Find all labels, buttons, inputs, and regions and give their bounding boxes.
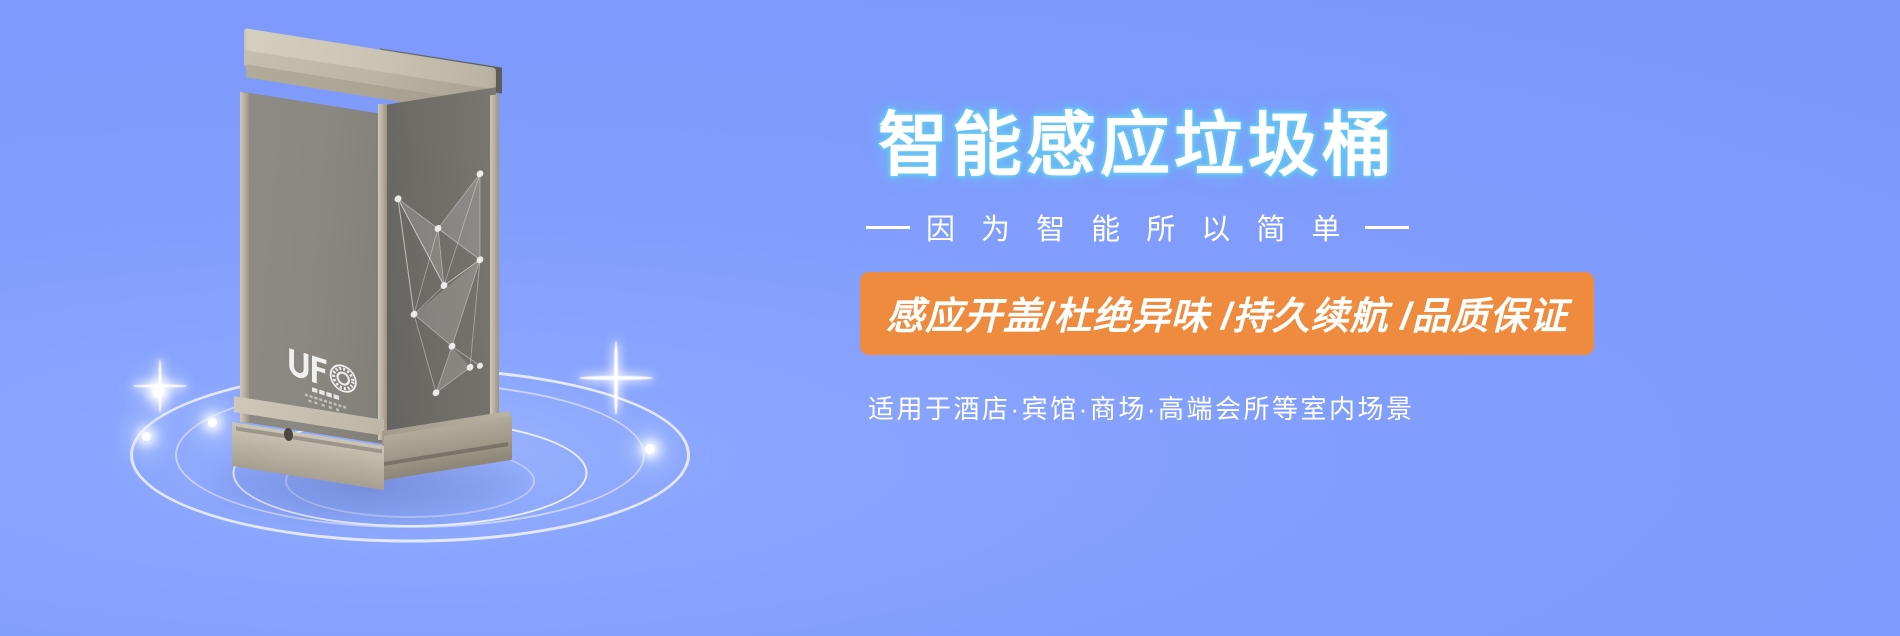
sensor-port-icon	[284, 427, 293, 441]
subline-rule-right	[1365, 226, 1409, 229]
product-scene	[60, 40, 760, 560]
promo-banner: 智能感应垃圾桶 因 为 智 能 所 以 简 单 感应开盖/杜绝异味 /持久续航 …	[0, 0, 1900, 636]
product-image-trash-can	[230, 40, 540, 460]
feature-badge: 感应开盖/杜绝异味 /持久续航 /品质保证	[860, 272, 1594, 355]
glow-dot-icon	[208, 418, 217, 427]
banner-headline: 智能感应垃圾桶	[878, 110, 1720, 180]
banner-subline: 因 为 智 能 所 以 简 单	[860, 206, 1720, 248]
banner-text-block: 智能感应垃圾桶 因 为 智 能 所 以 简 单 感应开盖/杜绝异味 /持久续航 …	[860, 110, 1720, 426]
subline-text: 因 为 智 能 所 以 简 单	[926, 206, 1349, 248]
subline-rule-left	[866, 226, 910, 229]
polygon-network-graphic	[384, 87, 496, 435]
glow-dot-icon	[142, 432, 151, 441]
body-edge-center	[378, 104, 387, 440]
body-face-right	[384, 87, 496, 435]
body-edge-right	[490, 94, 499, 420]
body-edge-left	[240, 92, 249, 423]
body-face-left	[244, 92, 384, 444]
banner-footnote: 适用于酒店·宾馆·商场·高端会所等室内场景	[860, 389, 1720, 426]
glow-dot-icon	[645, 444, 655, 454]
